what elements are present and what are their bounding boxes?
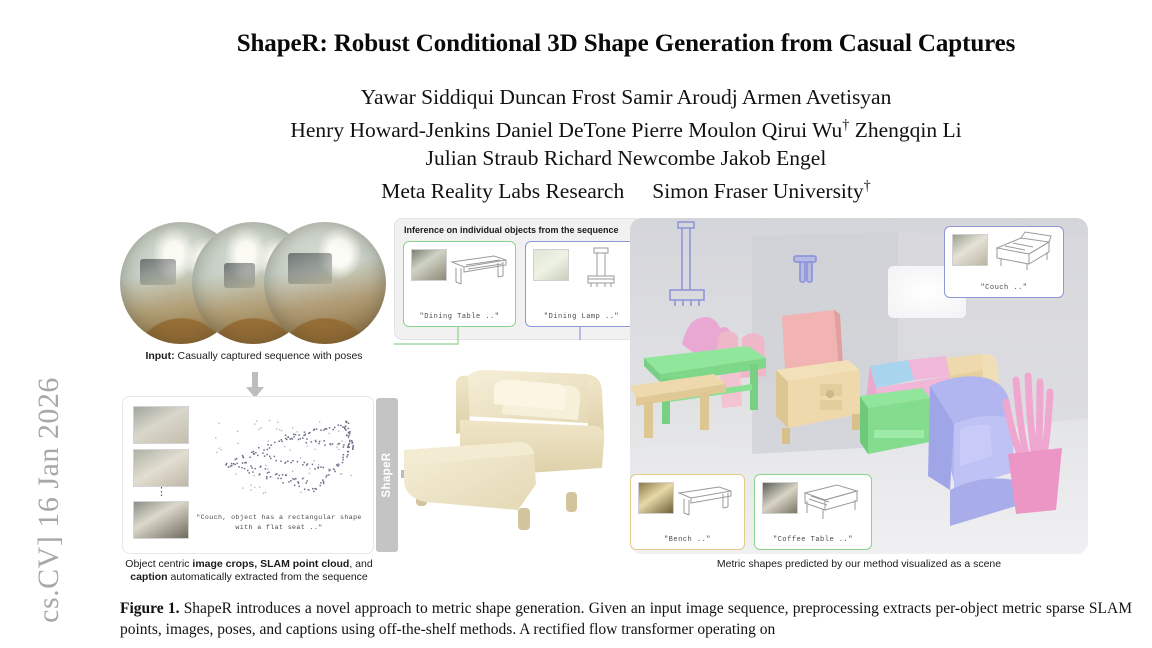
occ-l1a: Object centric xyxy=(125,558,192,570)
occ-l1c: , and xyxy=(349,558,372,570)
object-card-label: "Dining Table .." xyxy=(404,313,515,321)
object-card-label: "Coffee Table .." xyxy=(755,536,871,544)
object-card-dining-lamp[interactable]: "Dining Lamp .." xyxy=(525,241,638,327)
input-caption-label: Input: xyxy=(145,350,174,362)
couch-sketch xyxy=(991,230,1057,272)
paper-page: { "arxiv_stamp": "cs.CV] 16 Jan 2026", "… xyxy=(0,0,1152,648)
author-line-1: Yawar Siddiqui Duncan Frost Samir Aroudj… xyxy=(120,83,1132,111)
figure-1: Input: Casually captured sequence with p… xyxy=(118,218,1088,578)
object-card-thumbnail xyxy=(638,482,674,514)
object-centric-panel: ⋮ "Couch, object has a rectangular shape… xyxy=(122,396,374,554)
occ-l2a: caption xyxy=(130,571,167,583)
image-crop-1 xyxy=(133,406,189,444)
occ-l2b: automatically extracted from the sequenc… xyxy=(168,571,368,583)
dining-lamp-sketch xyxy=(570,246,632,290)
down-arrow-icon xyxy=(246,372,264,398)
affiliation-sfu-text: Simon Fraser University xyxy=(652,179,863,203)
input-caption-text: Casually captured sequence with poses xyxy=(175,350,363,362)
figure-caption-text: ShapeR introduces a novel approach to me… xyxy=(120,600,1132,638)
arxiv-stamp: cs.CV] 16 Jan 2026 xyxy=(29,355,69,645)
author-list: Yawar Siddiqui Duncan Frost Samir Aroudj… xyxy=(120,83,1132,172)
affiliation-list: Meta Reality Labs ResearchSimon Fraser U… xyxy=(120,178,1132,204)
object-card-thumbnail xyxy=(762,482,798,514)
object-card-label: "Bench .." xyxy=(631,536,744,544)
object-card-label: "Couch .." xyxy=(945,284,1063,292)
affiliation-meta: Meta Reality Labs Research xyxy=(381,179,624,203)
object-caption-text: "Couch, object has a rectangular shape w… xyxy=(187,513,371,533)
inference-panel-title: Inference on individual objects from the… xyxy=(404,225,619,235)
object-card-dining-table[interactable]: "Dining Table .." xyxy=(403,241,516,327)
object-card-couch[interactable]: "Couch .." xyxy=(944,226,1064,298)
input-caption: Input: Casually captured sequence with p… xyxy=(118,350,390,363)
author-line-2-tail: Zhengqin Li xyxy=(849,118,961,142)
affiliation-sfu: Simon Fraser University† xyxy=(652,179,871,203)
scene-caption: Metric shapes predicted by our method vi… xyxy=(630,558,1088,571)
author-line-2: Henry Howard-Jenkins Daniel DeTone Pierr… xyxy=(120,111,1132,144)
slam-point-cloud xyxy=(195,403,367,511)
image-crop-3 xyxy=(133,501,189,539)
fisheye-frame-3 xyxy=(264,222,386,344)
object-card-coffee-table[interactable]: "Coffee Table .." xyxy=(754,474,872,550)
inference-panel: Inference on individual objects from the… xyxy=(394,218,642,340)
crop-ellipsis: ⋮ xyxy=(156,485,168,498)
object-centric-caption: Object centric image crops, SLAM point c… xyxy=(110,558,388,584)
occ-l1b: image crops, SLAM point cloud xyxy=(192,558,349,570)
figure-caption: Figure 1. ShapeR introduces a novel appr… xyxy=(120,598,1132,640)
input-panel: Input: Casually captured sequence with p… xyxy=(118,218,390,373)
coffee-table-sketch xyxy=(799,479,861,523)
object-card-bench[interactable]: "Bench .." xyxy=(630,474,745,550)
object-card-label: "Dining Lamp .." xyxy=(526,313,637,321)
object-card-thumbnail xyxy=(533,249,569,281)
object-card-thumbnail xyxy=(411,249,447,281)
dining-table-sketch xyxy=(448,246,510,290)
author-line-2-head: Henry Howard-Jenkins Daniel DeTone Pierr… xyxy=(290,118,842,142)
card-connector-lines xyxy=(394,326,814,486)
image-crop-2 xyxy=(133,449,189,487)
author-line-3: Julian Straub Richard Newcombe Jakob Eng… xyxy=(120,144,1132,172)
bench-sketch xyxy=(675,479,737,523)
fisheye-frame-row xyxy=(118,218,390,346)
figure-caption-label: Figure 1. xyxy=(120,600,179,617)
object-card-thumbnail xyxy=(952,234,988,266)
page-title: ShapeR: Robust Conditional 3D Shape Gene… xyxy=(120,30,1132,58)
dagger-marker-affiliation: † xyxy=(864,178,871,194)
